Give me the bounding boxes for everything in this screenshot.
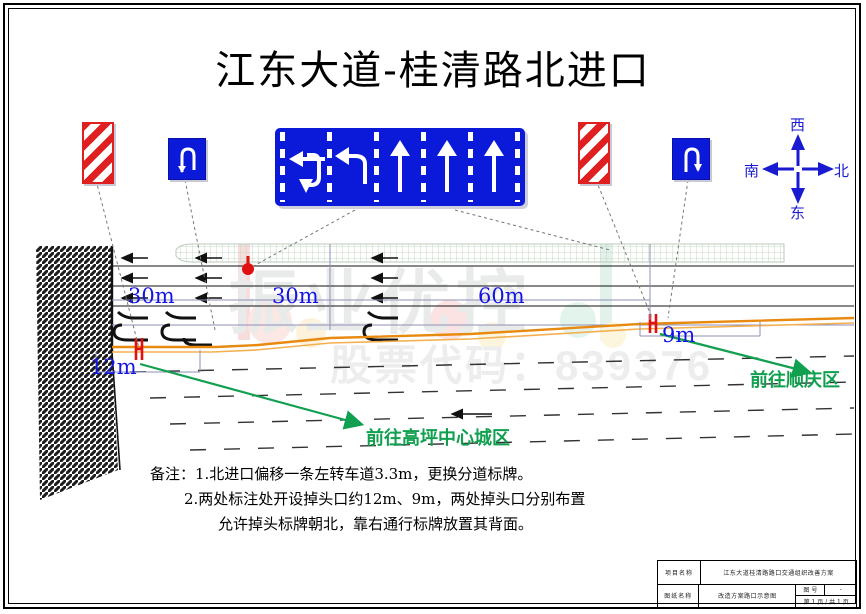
note-line-3: 允许掉头标牌朝北，靠右通行标牌放置其背面。: [150, 512, 710, 537]
compass-rose: 西 北 东 南: [748, 118, 848, 220]
page-title: 江东大道-桂清路北进口: [0, 38, 866, 96]
hazard-marker-left[interactable]: [82, 122, 114, 184]
straight-arrow-icon: [479, 138, 509, 196]
title-block-number-key: 图 号: [796, 585, 825, 596]
dim-9m: 9m: [662, 323, 695, 347]
title-block-number-row: 图 号 -: [796, 585, 856, 597]
lane-assignment-sign-board[interactable]: [275, 128, 525, 206]
destination-leader-arrows: [140, 334, 808, 424]
straight-arrow-icon: [432, 138, 462, 196]
title-block-project-key: 项目名称: [658, 561, 701, 584]
title-block-project-value: 江东大道桂清路路口交通组织改善方案: [701, 561, 856, 584]
compass-label-top: 西: [790, 114, 805, 135]
note-line-1: 备注：1.北进口偏移一条左转车道3.3m，更换分道标牌。: [150, 462, 710, 487]
left-turn-pavement-markings: [118, 312, 398, 318]
title-block: 项目名称 江东大道桂清路路口交通组织改善方案 图纸名称 改造方案路口示意图 图 …: [657, 560, 857, 608]
u-turn-icon: [678, 144, 704, 174]
destination-label-shunqing: 前往顺庆区: [750, 366, 840, 392]
dim-30m-mid: 30m: [272, 284, 319, 308]
title-block-page-row: 第 1 页 / 共 1 页: [796, 596, 856, 607]
lane-cell-straight-2: [426, 132, 468, 202]
u-turn-and-left-arrow-icon: [285, 137, 327, 197]
lane-cell-straight-1: [379, 132, 421, 202]
notes-block: 备注：1.北进口偏移一条左转车道3.3m，更换分道标牌。 2.两处标注处开设掉头…: [150, 462, 710, 537]
dim-30m-left: 30m: [128, 284, 175, 308]
destination-label-gaoping: 前往高坪中心城区: [366, 424, 510, 450]
dim-60m: 60m: [478, 284, 525, 308]
title-block-number-group: 图 号 - 第 1 页 / 共 1 页: [796, 585, 856, 608]
median-orange-line: [112, 318, 854, 352]
compass-label-bottom: 东: [790, 202, 805, 223]
title-block-page-value: 第 1 页 / 共 1 页: [796, 596, 856, 607]
u-turn-sign-left[interactable]: [168, 138, 206, 180]
note-line-2: 2.两处标注处开设掉头口约12m、9m，两处掉头口分别布置: [150, 487, 710, 512]
title-block-drawing-value: 改造方案路口示意图: [699, 585, 796, 608]
compass-label-right: 北: [834, 160, 849, 181]
title-block-drawing-row: 图纸名称 改造方案路口示意图 图 号 - 第 1 页 / 共 1 页: [658, 585, 856, 608]
title-block-number-value: -: [825, 585, 856, 596]
u-turn-icon: [174, 144, 200, 174]
lane-divider: [515, 132, 520, 202]
lane-cell-left: [332, 132, 374, 202]
u-turn-sign-right[interactable]: [672, 138, 710, 180]
hazard-marker-right[interactable]: [578, 122, 610, 184]
drawing-canvas: 振业优控 股票代码：839376: [0, 0, 866, 614]
lane-cell-straight-3: [473, 132, 515, 202]
compass-label-left: 南: [744, 160, 759, 181]
left-arrow-icon: [333, 138, 373, 196]
title-block-drawing-key: 图纸名称: [658, 585, 699, 608]
straight-arrow-icon: [385, 138, 415, 196]
lane-cell-uturn-left: [285, 132, 327, 202]
title-block-project-row: 项目名称 江东大道桂清路路口交通组织改善方案: [658, 561, 856, 585]
north-median-strip: [176, 244, 784, 262]
dim-12m: 12m: [90, 355, 137, 379]
